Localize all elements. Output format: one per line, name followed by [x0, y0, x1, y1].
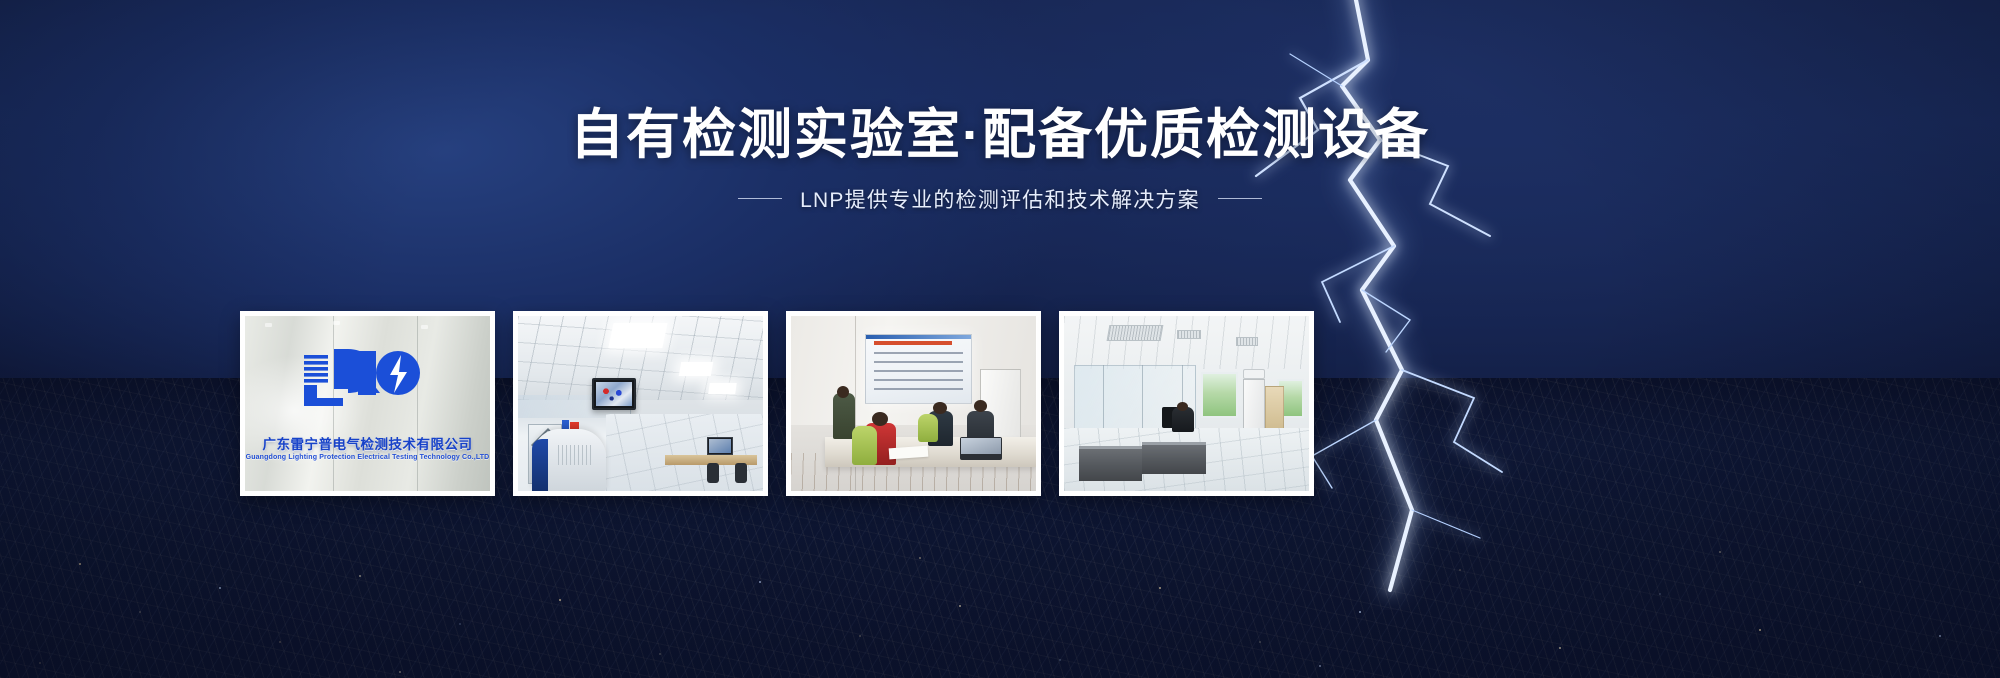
rule-left-icon — [738, 198, 782, 199]
company-name-en: Guangdong Lighting Protection Electrical… — [246, 454, 490, 461]
photo-card-testing-laboratory[interactable] — [513, 311, 768, 496]
projection-screen — [865, 334, 973, 404]
office-desk-left — [1079, 446, 1143, 481]
ceiling-vent-icon — [1177, 330, 1202, 339]
air-conditioner — [1243, 369, 1265, 380]
photo-card-training-meeting-room[interactable] — [786, 311, 1041, 496]
photo-office-area — [1064, 316, 1309, 491]
hero-banner: 自有检测实验室·配备优质检测设备 LNP提供专业的检测评估和技术解决方案 — [0, 0, 2000, 678]
slide-header-bar — [866, 335, 972, 340]
banner-subline: LNP提供专业的检测评估和技术解决方案 — [0, 184, 2000, 214]
ceiling-vent-icon — [421, 325, 428, 329]
person-head — [837, 386, 849, 398]
ceiling-vent-icon — [1236, 337, 1258, 346]
photo-card-company-logo-wall[interactable]: 广东雷宁普电气检测技术有限公司 Guangdong Lighting Prote… — [240, 311, 495, 496]
office-window — [1201, 372, 1238, 418]
banner-text-block: 自有检测实验室·配备优质检测设备 LNP提供专业的检测评估和技术解决方案 — [0, 104, 2000, 214]
banner-subtitle: LNP提供专业的检测评估和技术解决方案 — [800, 184, 1200, 214]
lab-chair — [707, 463, 719, 483]
photo-training-meeting-room — [791, 316, 1036, 491]
ceiling-light-panel — [608, 323, 667, 348]
laptop-computer — [960, 437, 1002, 460]
photo-gallery: 广东雷宁普电气检测技术有限公司 Guangdong Lighting Prote… — [240, 311, 1314, 496]
banner-headline: 自有检测实验室·配备优质检测设备 — [0, 104, 2000, 168]
ceiling-vent-icon — [1107, 325, 1164, 341]
person-head — [1177, 402, 1188, 412]
rule-right-icon — [1218, 198, 1262, 199]
lab-computer-screen — [707, 437, 733, 455]
photo-testing-laboratory — [518, 316, 763, 491]
ceiling-light-panel — [708, 383, 736, 394]
ceiling-vent-icon — [333, 321, 340, 325]
slide-title-block — [874, 341, 952, 346]
slide-text-lines — [874, 352, 963, 396]
lab-control-console — [532, 429, 606, 491]
photo-company-logo-wall: 广东雷宁普电气检测技术有限公司 Guangdong Lighting Prote… — [245, 316, 490, 491]
chair-green — [852, 426, 877, 465]
person-head — [872, 412, 888, 426]
ceiling-vent-icon — [265, 323, 272, 327]
console-vents — [558, 445, 594, 465]
monitor-content — [594, 380, 634, 408]
ceiling-light-panel — [678, 362, 712, 376]
person-head — [933, 402, 946, 414]
wall-monitor — [592, 378, 636, 410]
lab-chair — [735, 463, 747, 483]
company-name-cn: 广东雷宁普电气检测技术有限公司 — [263, 433, 473, 453]
office-desk-right — [1142, 442, 1206, 474]
office-ceiling — [1064, 316, 1309, 369]
photo-card-office-area[interactable] — [1059, 311, 1314, 496]
chair-green — [918, 414, 938, 442]
lnp-logo-icon — [302, 345, 434, 407]
